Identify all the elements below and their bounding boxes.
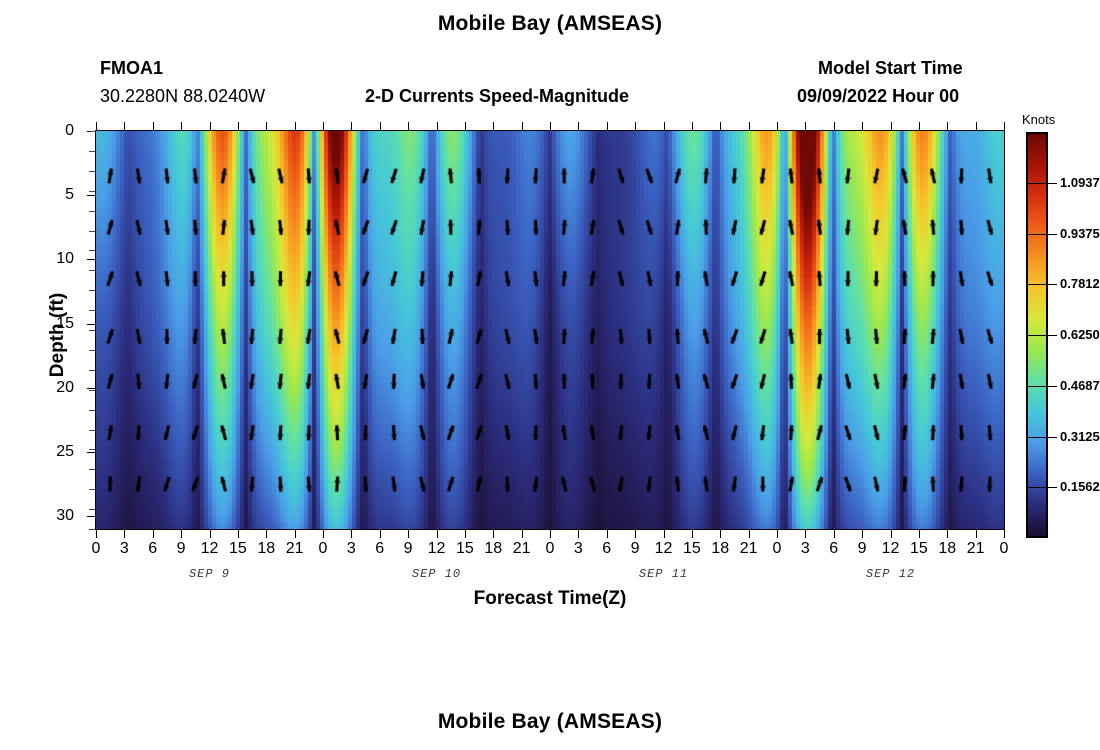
x-tick-label-0: 0 — [81, 540, 111, 558]
colorbar-separator-4 — [1026, 386, 1048, 387]
x-tick-mark-1 — [124, 530, 125, 538]
x-tick-mark-top-12 — [437, 122, 438, 130]
station-id-label: FMOA1 — [100, 58, 163, 79]
x-tick-mark-top-25 — [805, 122, 806, 130]
colorbar-separator-6 — [1026, 487, 1048, 488]
x-tick-label-31: 21 — [961, 540, 991, 558]
x-tick-label-21: 15 — [677, 540, 707, 558]
x-tick-mark-13 — [465, 530, 466, 538]
day-label-2: SEP 11 — [619, 567, 709, 581]
x-tick-mark-21 — [692, 530, 693, 538]
y-tick-minor — [89, 370, 95, 371]
x-tick-mark-top-21 — [692, 122, 693, 130]
y-tick-minor — [89, 231, 95, 232]
y-tick-minor — [89, 330, 95, 331]
y-tick-minor — [89, 489, 95, 490]
colorbar-tick-4 — [1048, 386, 1057, 387]
chart-subtitle: 2-D Currents Speed-Magnitude — [365, 86, 629, 107]
y-tick-minor — [89, 529, 95, 530]
y-tick-mark-30 — [87, 516, 95, 517]
y-tick-minor — [89, 290, 95, 291]
x-tick-mark-30 — [947, 530, 948, 538]
y-tick-label-20: 20 — [40, 379, 74, 397]
x-tick-mark-top-17 — [578, 122, 579, 130]
y-tick-minor — [89, 509, 95, 510]
colorbar-label-4: 0.46875 — [1060, 378, 1100, 393]
x-tick-mark-top-0 — [96, 122, 97, 130]
x-tick-mark-top-22 — [720, 122, 721, 130]
x-tick-mark-15 — [522, 530, 523, 538]
x-tick-label-8: 0 — [308, 540, 338, 558]
x-tick-mark-12 — [437, 530, 438, 538]
x-tick-mark-top-5 — [238, 122, 239, 130]
y-tick-minor — [89, 171, 95, 172]
x-tick-mark-4 — [210, 530, 211, 538]
y-tick-mark-10 — [87, 259, 95, 260]
colorbar-tick-1 — [1048, 234, 1057, 235]
x-tick-mark-top-8 — [323, 122, 324, 130]
x-tick-mark-top-9 — [351, 122, 352, 130]
x-tick-label-15: 21 — [507, 540, 537, 558]
day-label-1: SEP 10 — [392, 567, 482, 581]
x-tick-label-24: 0 — [762, 540, 792, 558]
station-coordinates-label: 30.2280N 88.0240W — [100, 86, 265, 107]
x-tick-label-7: 21 — [280, 540, 310, 558]
x-tick-label-20: 12 — [649, 540, 679, 558]
x-tick-mark-24 — [777, 530, 778, 538]
x-tick-label-19: 9 — [620, 540, 650, 558]
heatmap-canvas — [96, 131, 1004, 529]
x-tick-label-5: 15 — [223, 540, 253, 558]
x-tick-mark-top-1 — [124, 122, 125, 130]
colorbar-label-0: 1.09375 — [1060, 175, 1100, 190]
x-tick-label-29: 15 — [904, 540, 934, 558]
y-tick-minor — [89, 270, 95, 271]
page-title: Mobile Bay (AMSEAS) — [0, 12, 1100, 36]
x-tick-label-4: 12 — [195, 540, 225, 558]
x-tick-mark-top-16 — [550, 122, 551, 130]
y-tick-label-25: 25 — [40, 443, 74, 461]
x-tick-mark-17 — [578, 530, 579, 538]
x-tick-mark-top-13 — [465, 122, 466, 130]
x-tick-mark-top-23 — [749, 122, 750, 130]
x-tick-mark-6 — [266, 530, 267, 538]
x-tick-mark-19 — [635, 530, 636, 538]
x-tick-label-12: 12 — [422, 540, 452, 558]
x-tick-mark-top-2 — [153, 122, 154, 130]
colorbar-separator-1 — [1026, 234, 1048, 235]
colorbar-tick-3 — [1048, 335, 1057, 336]
x-tick-mark-0 — [96, 530, 97, 538]
y-tick-minor — [89, 390, 95, 391]
colorbar-tick-5 — [1048, 437, 1057, 438]
y-tick-minor — [89, 430, 95, 431]
x-tick-label-28: 12 — [876, 540, 906, 558]
x-tick-label-32: 0 — [989, 540, 1019, 558]
x-tick-mark-top-28 — [891, 122, 892, 130]
x-tick-mark-top-19 — [635, 122, 636, 130]
colorbar-units-label: Knots — [1022, 112, 1055, 127]
x-tick-mark-top-15 — [522, 122, 523, 130]
x-tick-mark-top-6 — [266, 122, 267, 130]
y-tick-minor — [89, 151, 95, 152]
y-tick-minor — [89, 350, 95, 351]
y-tick-label-30: 30 — [40, 507, 74, 525]
x-tick-mark-8 — [323, 530, 324, 538]
x-tick-mark-top-20 — [664, 122, 665, 130]
y-tick-minor — [89, 449, 95, 450]
x-tick-label-26: 6 — [819, 540, 849, 558]
x-tick-mark-2 — [153, 530, 154, 538]
x-tick-mark-25 — [805, 530, 806, 538]
x-tick-mark-top-30 — [947, 122, 948, 130]
x-tick-mark-top-31 — [976, 122, 977, 130]
day-label-0: SEP 9 — [165, 567, 255, 581]
x-tick-mark-top-18 — [607, 122, 608, 130]
y-tick-label-5: 5 — [40, 186, 74, 204]
x-tick-label-23: 21 — [734, 540, 764, 558]
x-tick-label-18: 6 — [592, 540, 622, 558]
y-tick-minor — [89, 469, 95, 470]
x-tick-label-13: 15 — [450, 540, 480, 558]
x-tick-mark-10 — [380, 530, 381, 538]
x-tick-mark-7 — [295, 530, 296, 538]
y-tick-mark-5 — [87, 195, 95, 196]
x-tick-mark-22 — [720, 530, 721, 538]
x-tick-mark-14 — [493, 530, 494, 538]
y-tick-mark-25 — [87, 452, 95, 453]
y-tick-minor — [89, 211, 95, 212]
model-start-time-label: Model Start Time — [818, 58, 963, 79]
x-tick-mark-9 — [351, 530, 352, 538]
day-label-3: SEP 12 — [846, 567, 936, 581]
x-tick-mark-3 — [181, 530, 182, 538]
x-tick-mark-23 — [749, 530, 750, 538]
x-tick-mark-27 — [862, 530, 863, 538]
x-tick-mark-18 — [607, 530, 608, 538]
model-start-time-value: 09/09/2022 Hour 00 — [797, 86, 959, 107]
x-tick-label-17: 3 — [563, 540, 593, 558]
x-tick-label-10: 6 — [365, 540, 395, 558]
colorbar-separator-0 — [1026, 183, 1048, 184]
x-tick-mark-top-3 — [181, 122, 182, 130]
x-tick-mark-top-32 — [1004, 122, 1005, 130]
x-tick-label-11: 9 — [393, 540, 423, 558]
y-tick-label-10: 10 — [40, 250, 74, 268]
x-tick-mark-top-29 — [919, 122, 920, 130]
x-tick-label-9: 3 — [336, 540, 366, 558]
x-tick-label-1: 3 — [109, 540, 139, 558]
x-tick-label-14: 18 — [478, 540, 508, 558]
x-tick-mark-top-11 — [408, 122, 409, 130]
y-tick-minor — [89, 410, 95, 411]
x-tick-mark-20 — [664, 530, 665, 538]
bottom-title: Mobile Bay (AMSEAS) — [0, 710, 1100, 734]
x-tick-label-30: 18 — [932, 540, 962, 558]
colorbar-label-6: 0.15625 — [1060, 479, 1100, 494]
x-tick-mark-top-14 — [493, 122, 494, 130]
colorbar-tick-0 — [1048, 183, 1057, 184]
colorbar-label-1: 0.93750 — [1060, 226, 1100, 241]
x-tick-label-25: 3 — [790, 540, 820, 558]
x-tick-mark-29 — [919, 530, 920, 538]
x-tick-mark-26 — [834, 530, 835, 538]
x-tick-mark-top-26 — [834, 122, 835, 130]
current-speed-heatmap — [95, 130, 1005, 530]
colorbar-label-3: 0.62500 — [1060, 327, 1100, 342]
y-tick-minor — [89, 310, 95, 311]
x-tick-label-22: 18 — [705, 540, 735, 558]
x-tick-mark-28 — [891, 530, 892, 538]
x-tick-label-27: 9 — [847, 540, 877, 558]
y-tick-mark-20 — [87, 388, 95, 389]
x-tick-mark-top-10 — [380, 122, 381, 130]
x-tick-mark-31 — [976, 530, 977, 538]
colorbar-tick-2 — [1048, 284, 1057, 285]
y-tick-label-0: 0 — [40, 122, 74, 140]
colorbar-tick-6 — [1048, 487, 1057, 488]
x-tick-label-2: 6 — [138, 540, 168, 558]
x-tick-label-3: 9 — [166, 540, 196, 558]
x-tick-mark-5 — [238, 530, 239, 538]
x-tick-label-16: 0 — [535, 540, 565, 558]
y-tick-mark-15 — [87, 324, 95, 325]
colorbar-label-5: 0.31250 — [1060, 429, 1100, 444]
y-tick-minor — [89, 131, 95, 132]
colorbar-label-2: 0.78125 — [1060, 276, 1100, 291]
y-tick-minor — [89, 250, 95, 251]
colorbar-separator-5 — [1026, 437, 1048, 438]
y-tick-minor — [89, 191, 95, 192]
x-tick-mark-32 — [1004, 530, 1005, 538]
x-tick-mark-top-7 — [295, 122, 296, 130]
x-tick-label-6: 18 — [251, 540, 281, 558]
y-tick-label-15: 15 — [40, 315, 74, 333]
colorbar-separator-3 — [1026, 335, 1048, 336]
x-tick-mark-top-24 — [777, 122, 778, 130]
x-tick-mark-top-27 — [862, 122, 863, 130]
x-tick-mark-top-4 — [210, 122, 211, 130]
colorbar-separator-2 — [1026, 284, 1048, 285]
x-axis-label: Forecast Time(Z) — [0, 588, 1100, 610]
x-tick-mark-16 — [550, 530, 551, 538]
x-tick-mark-11 — [408, 530, 409, 538]
